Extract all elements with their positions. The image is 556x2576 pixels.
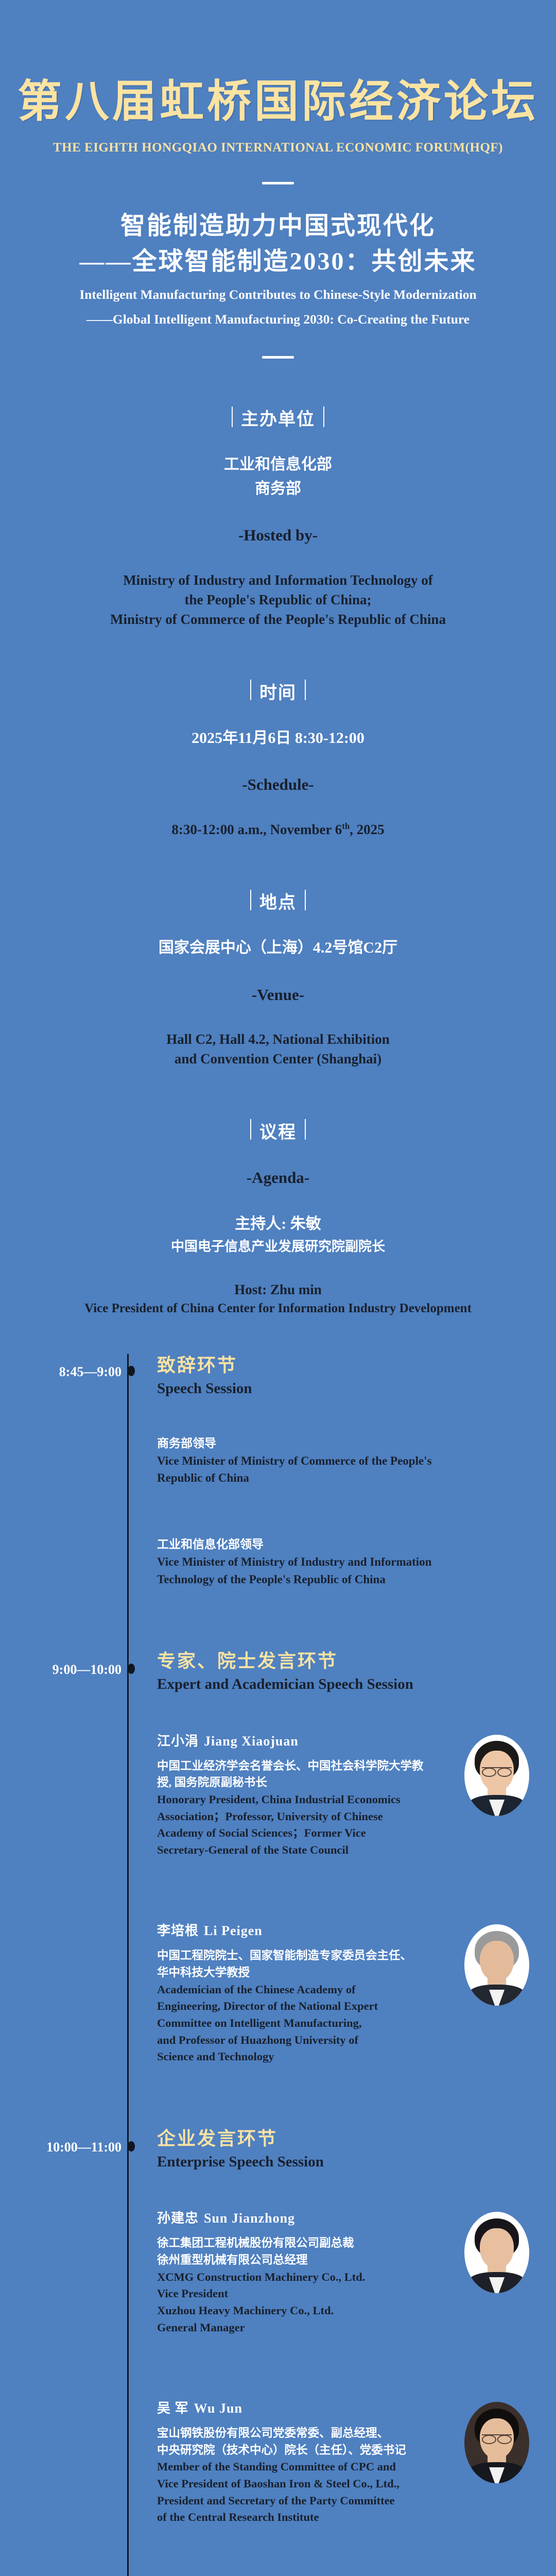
session-content: 致辞环节 Speech Session 商务部领导 Vice Minister … (157, 1354, 556, 1588)
label-bar-right (323, 406, 324, 427)
label-bar-right (305, 680, 306, 700)
timeline-row: 8:45—9:00 致辞环节 Speech Session 商务部领导 Vice… (0, 1354, 556, 1588)
avatar (464, 1735, 529, 1816)
subtitle-en-line1: Intelligent Manufacturing Contributes to… (0, 285, 556, 304)
forum-poster: 第八届虹桥国际经济论坛 THE EIGHTH HONGQIAO INTERNAT… (0, 0, 556, 2576)
timeline-row: 10:00—11:00 企业发言环节 Enterprise Speech Ses… (0, 2127, 556, 2576)
session-title-en: Speech Session (157, 1379, 541, 1399)
label-bar-left (232, 406, 233, 427)
speaker-title-en-line: Xuzhou Heavy Machinery Co., Ltd. (157, 2302, 445, 2319)
venue-value-en-2: and Convention Center (Shanghai) (0, 1049, 556, 1069)
speaker-title-cn-line: 授, 国务院原副秘书长 (157, 1774, 445, 1791)
session-title-en: Enterprise Speech Session (157, 2153, 541, 2172)
organizer-cn-2: 商务部 (0, 477, 556, 501)
timeline-dot-icon (128, 1366, 135, 1376)
speaker-title-cn-line: 华中科技大学教授 (157, 1964, 445, 1981)
avatar (464, 2402, 529, 2483)
time-value-en-sup: th (342, 821, 350, 831)
speaker-title-en-line: XCMG Construction Machinery Co., Ltd. (157, 2269, 445, 2286)
organizer-en-1: Ministry of Industry and Information Tec… (0, 570, 556, 590)
speaker-name-cn: 李培根 (157, 1923, 199, 1938)
speaker-title-en-line: Honorary President, China Industrial Eco… (157, 1791, 445, 1808)
speaker-title-en-line: Committee on Intelligent Manufacturing, (157, 2015, 445, 2032)
page-title-en: THE EIGHTH HONGQIAO INTERNATIONAL ECONOM… (0, 141, 556, 155)
agenda-label: 议程 (0, 1118, 556, 1143)
speaker-title-en-line: Engineering, Director of the National Ex… (157, 1998, 445, 2015)
divider-2 (262, 356, 294, 359)
time-value-cn: 2025年11月6日 8:30-12:00 (0, 726, 556, 751)
speaker-title-cn-line: 徐州重型机械有限公司总经理 (157, 2252, 445, 2269)
speaker-entry: 商务部领导 Vice Minister of Ministry of Comme… (157, 1435, 541, 1487)
speaker-title-en-line: Member of the Standing Committee of CPC … (157, 2459, 445, 2476)
speaker-name-en: Li Peigen (204, 1923, 263, 1938)
label-bar-left (250, 1119, 251, 1140)
speaker-role-en-line: Vice Minister of Ministry of Commerce of… (157, 1452, 486, 1469)
speaker-title-en-line: Vice President of Baoshan Iron & Steel C… (157, 2476, 445, 2493)
organizer-label: 主办单位 (0, 405, 556, 430)
speaker-title-en-line: Secretary-General of the State Council (157, 1842, 445, 1859)
organizer-en-3: Ministry of Commerce of the People's Rep… (0, 609, 556, 629)
timeline-time-marker: 8:45—9:00 (0, 1363, 135, 1380)
speaker-role-cn: 商务部领导 (157, 1435, 486, 1453)
timeline-time-marker: 10:00—11:00 (0, 2139, 135, 2155)
agenda-timeline: 8:45—9:00 致辞环节 Speech Session 商务部领导 Vice… (0, 1354, 556, 2576)
subtitle-cn-line2: ——全球智能制造2030：共创未来 (0, 244, 556, 280)
label-bar-left (250, 680, 251, 700)
speaker-title-en-line: President and Secretary of the Party Com… (157, 2493, 445, 2510)
venue-en-label: -Venue- (0, 983, 556, 1007)
session-content: 企业发言环节 Enterprise Speech Session 孙建忠Sun … (157, 2127, 556, 2576)
organizer-cn-1: 工业和信息化部 (0, 453, 556, 477)
divider (262, 182, 294, 184)
speaker-title-en-line: Association；Professor, University of Chi… (157, 1808, 445, 1825)
speaker-name-en: Wu Jun (194, 2401, 242, 2416)
speaker-card: 李培根Li Peigen 中国工程院院士、国家智能制造专家委员会主任、 华中科技… (157, 1920, 541, 2065)
avatar (464, 1924, 529, 2006)
speaker-name: 李培根Li Peigen (157, 1920, 445, 1939)
speaker-name-en: Jiang Xiaojuan (204, 1734, 299, 1749)
speaker-title-cn-line: 中国工程院院士、国家智能制造专家委员会主任、 (157, 1947, 445, 1964)
speaker-title-en-line: Academy of Social Sciences；Former Vice (157, 1825, 445, 1842)
speaker-entry: 工业和信息化部领导 Vice Minister of Ministry of I… (157, 1536, 541, 1588)
label-bar-right (305, 1119, 306, 1140)
speaker-card: 孙建忠Sun Jianzhong 徐工集团工程机械股份有限公司副总裁 徐州重型机… (157, 2208, 541, 2336)
speaker-role-en-line: Vice Minister of Ministry of Industry an… (157, 1553, 486, 1570)
speaker-title-en-line: General Manager (157, 2319, 445, 2336)
session-title-en: Expert and Academician Speech Session (157, 1675, 541, 1694)
speaker-title-en-line: and Professor of Huazhong University of (157, 2032, 445, 2049)
session-content: 专家、院士发言环节 Expert and Academician Speech … (157, 1650, 556, 2065)
speaker-role-en-line: Republic of China (157, 1469, 486, 1486)
label-bar-right (305, 890, 306, 910)
session-title-cn: 企业发言环节 (157, 2127, 541, 2150)
time-value-en-main: 8:30-12:00 a.m., November 6 (171, 822, 342, 837)
schedule-label: -Schedule- (0, 773, 556, 797)
speaker-name-cn: 吴 军 (157, 2401, 189, 2416)
timeline-row: 9:00—10:00 专家、院士发言环节 Expert and Academic… (0, 1650, 556, 2065)
avatar (464, 2212, 529, 2293)
speaker-card: 江小涓Jiang Xiaojuan 中国工业经济学会名誉会长、中国社会科学院大学… (157, 1731, 541, 1859)
time-value-en-tail: , 2025 (350, 822, 385, 837)
session-title-cn: 致辞环节 (157, 1354, 541, 1377)
session-title-cn: 专家、院士发言环节 (157, 1650, 541, 1673)
poster-header: 第八届虹桥国际经济论坛 THE EIGHTH HONGQIAO INTERNAT… (0, 0, 556, 359)
speaker-title-cn-line: 中央研究院（技术中心）院长（主任）、党委书记 (157, 2442, 445, 2459)
time-value-en: 8:30-12:00 a.m., November 6th, 2025 (0, 820, 556, 839)
speaker-name: 吴 军Wu Jun (157, 2398, 445, 2417)
time-label: 时间 (0, 679, 556, 704)
speaker-role-cn: 工业和信息化部领导 (157, 1536, 486, 1554)
organizer-en-2: the People's Republic of China; (0, 590, 556, 609)
speaker-name-en: Sun Jianzhong (204, 2211, 295, 2226)
agenda-host-en-title: Vice President of China Center for Infor… (0, 1299, 556, 1318)
speaker-title-en-line: Science and Technology (157, 2048, 445, 2065)
subtitle-en-line2: ——Global Intelligent Manufacturing 2030:… (0, 310, 556, 329)
speaker-name: 江小涓Jiang Xiaojuan (157, 1731, 445, 1750)
speaker-card: 吴 军Wu Jun 宝山钢铁股份有限公司党委常委、副总经理、 中央研究院（技术中… (157, 2398, 541, 2526)
speaker-title-en-line: of the Central Research Institute (157, 2509, 445, 2526)
venue-value-en-1: Hall C2, Hall 4.2, National Exhibition (0, 1029, 556, 1049)
label-bar-left (250, 890, 251, 910)
speaker-title-cn-line: 宝山钢铁股份有限公司党委常委、副总经理、 (157, 2425, 445, 2442)
speaker-role-en-line: Technology of the People's Republic of C… (157, 1571, 486, 1588)
speaker-name-cn: 孙建忠 (157, 2211, 199, 2226)
timeline-dot-icon (128, 2141, 135, 2151)
agenda-host-cn-title: 中国电子信息产业发展研究院副院长 (0, 1236, 556, 1257)
hosted-by-label: -Hosted by- (0, 523, 556, 548)
agenda-host-cn-name: 主持人: 朱敏 (0, 1212, 556, 1236)
timeline-time-marker: 9:00—10:00 (0, 1661, 135, 1677)
page-title: 第八届虹桥国际经济论坛 (0, 77, 556, 126)
speaker-name-cn: 江小涓 (157, 1734, 199, 1749)
speaker-title-cn-line: 徐工集团工程机械股份有限公司副总裁 (157, 2235, 445, 2252)
speaker-name: 孙建忠Sun Jianzhong (157, 2208, 445, 2227)
subtitle-cn-line1: 智能制造助力中国式现代化 (0, 208, 556, 244)
speaker-title-en-line: Vice President (157, 2285, 445, 2302)
speaker-title-cn-line: 中国工业经济学会名誉会长、中国社会科学院大学教 (157, 1758, 445, 1775)
speaker-title-en-line: Academician of the Chinese Academy of (157, 1981, 445, 1998)
agenda-host-en-name: Host: Zhu min (0, 1280, 556, 1299)
agenda-en-label: -Agenda- (0, 1166, 556, 1190)
venue-value-cn: 国家会展中心（上海）4.2号馆C2厅 (0, 936, 556, 960)
venue-label: 地点 (0, 888, 556, 913)
timeline-dot-icon (128, 1664, 135, 1674)
